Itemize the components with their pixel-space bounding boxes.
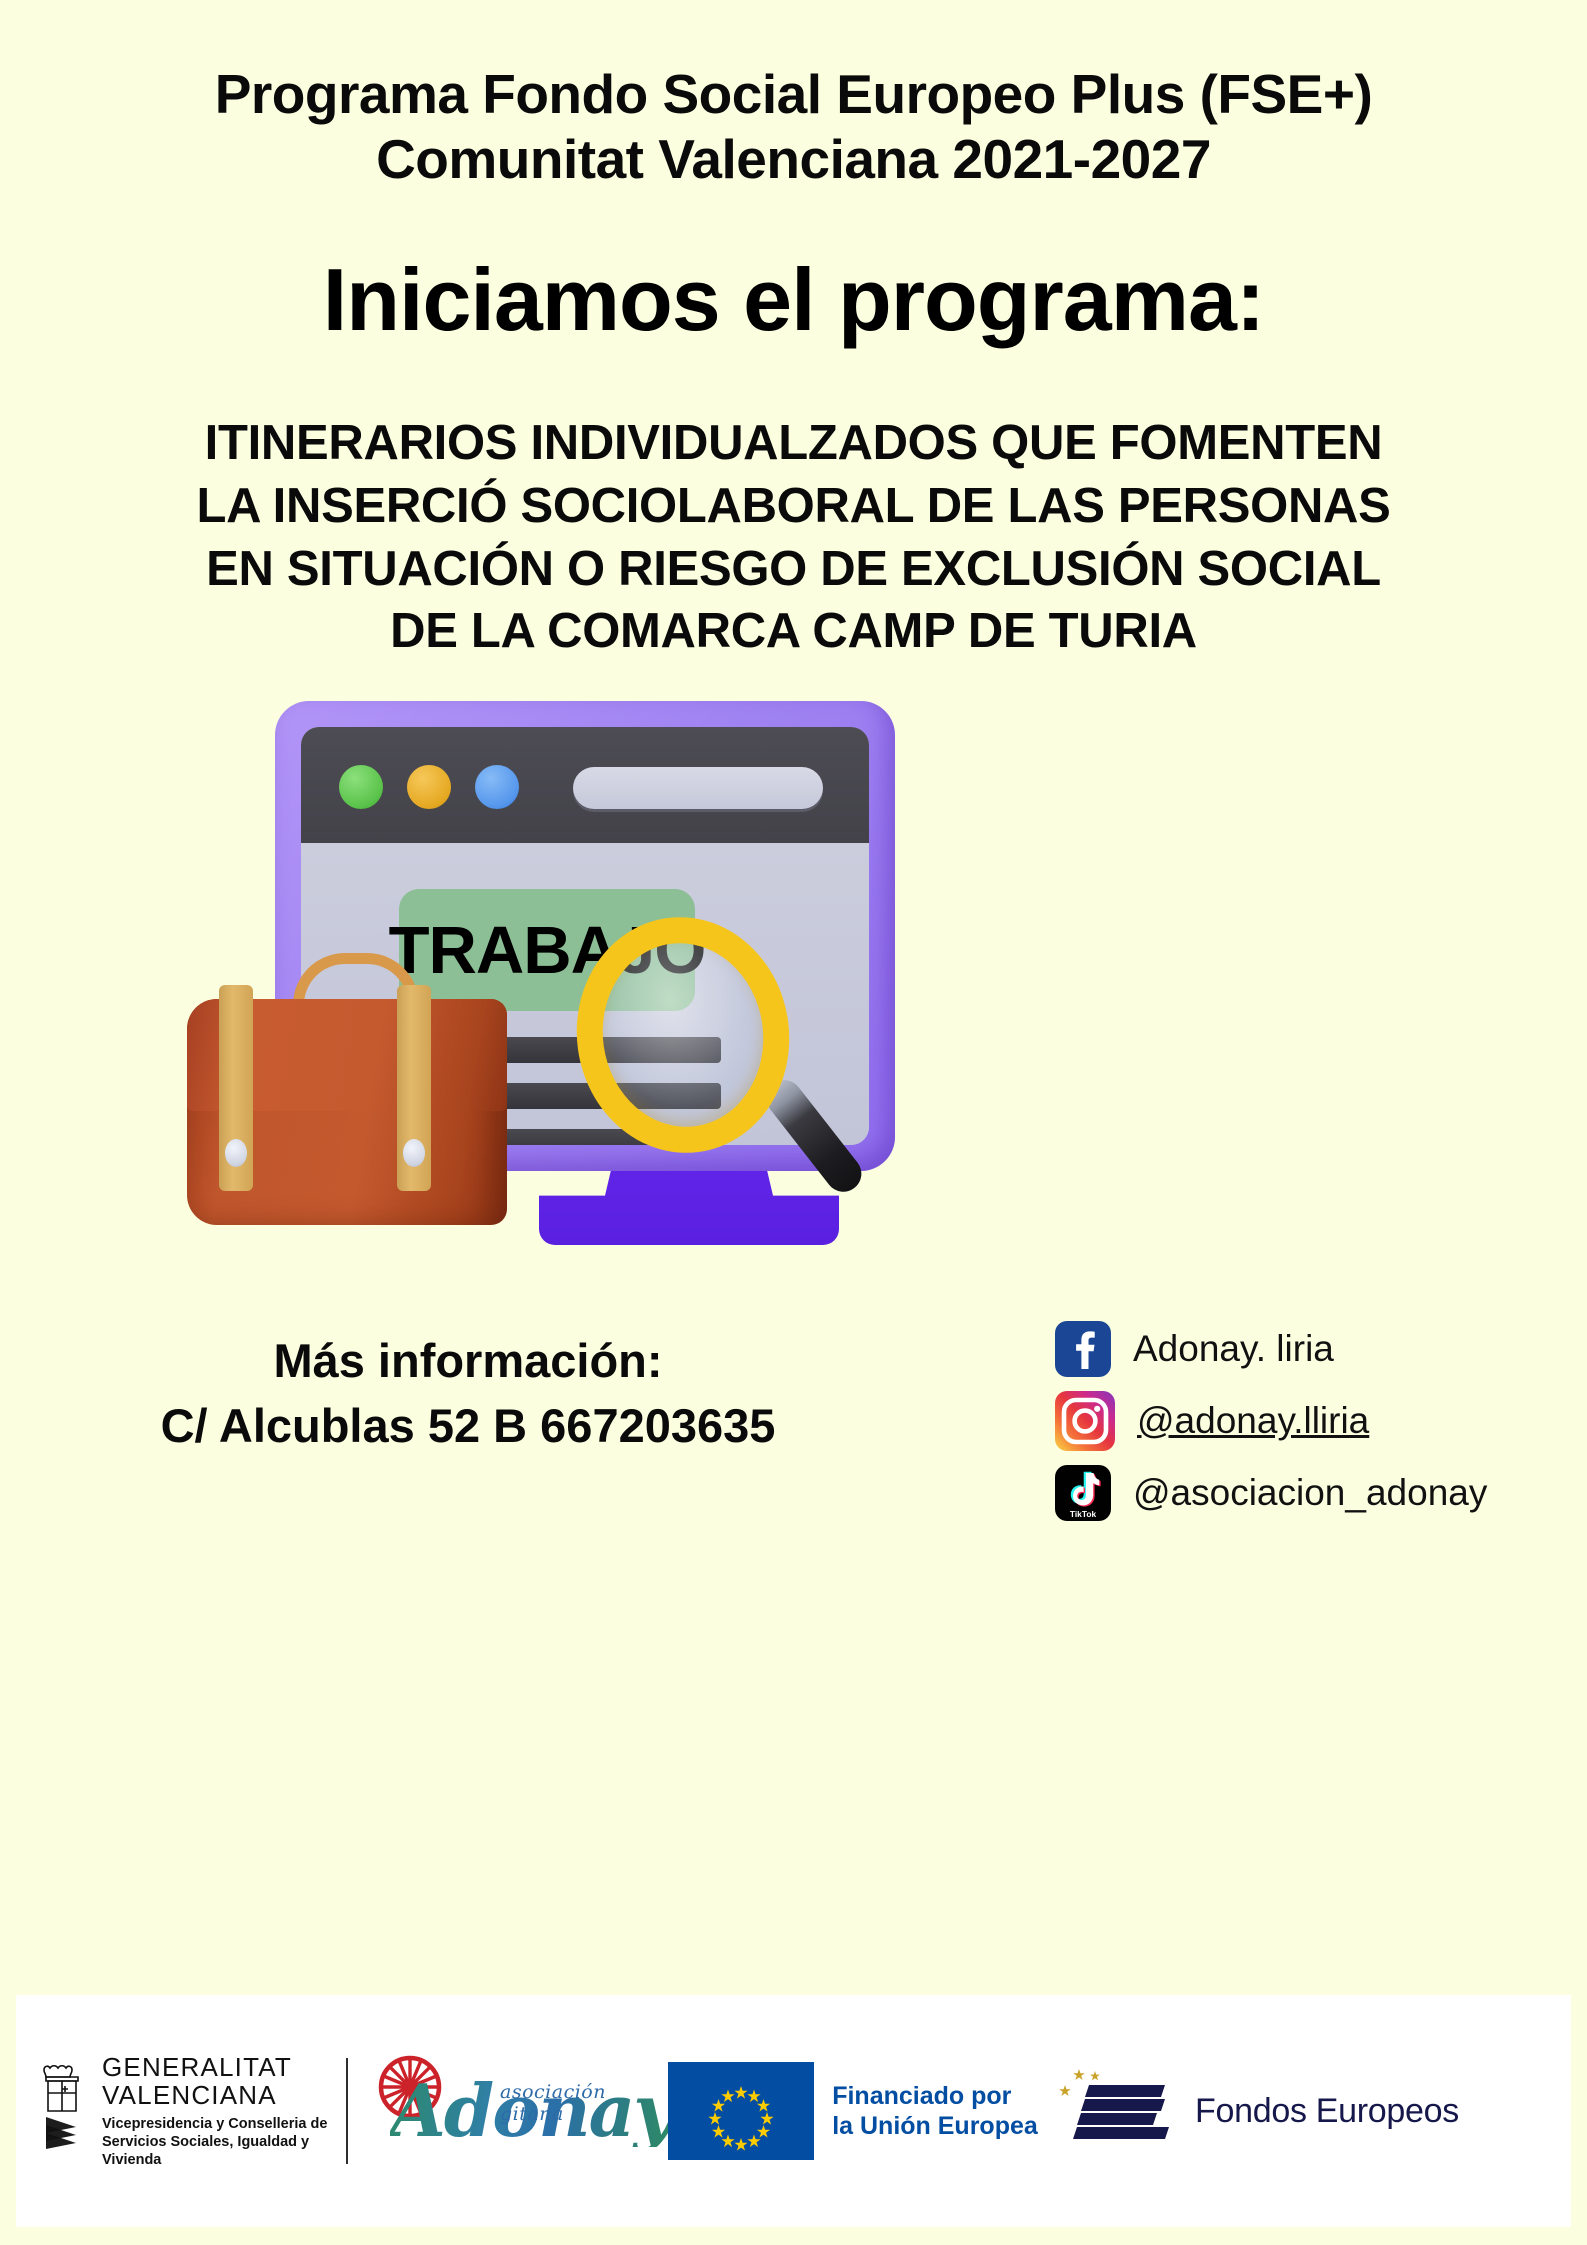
logo-financiado-union-europea: Financiado por la Unión Europea (658, 1995, 1048, 2227)
logo-fondos-europeos: Fondos Europeos (1048, 1995, 1468, 2227)
illustration-container: TRABAJO (0, 685, 1587, 1295)
facebook-icon[interactable] (1055, 1321, 1111, 1377)
program-description: ITINERARIOS INDIVIDUALZADOS QUE FOMENTEN… (0, 412, 1587, 663)
instagram-icon[interactable] (1055, 1391, 1115, 1451)
eu-funding-line2: la Unión Europea (832, 2111, 1038, 2142)
description-line-4: DE LA COMARCA CAMP DE TURIA (110, 600, 1477, 663)
briefcase-buckle-right (403, 1139, 425, 1167)
briefcase-icon (187, 957, 507, 1225)
eu-flag-icon (668, 2062, 814, 2160)
facebook-handle[interactable]: Adonay. liria (1133, 1328, 1334, 1370)
page-title: Iniciamos el programa: (0, 254, 1587, 346)
briefcase-buckle-left (225, 1139, 247, 1167)
instagram-handle[interactable]: @adonay.lliria (1137, 1400, 1369, 1442)
eu-funding-line1: Financiado por (832, 2081, 1038, 2112)
generalitat-subtitle-line1: Vicepresidencia y Conselleria de (102, 2115, 336, 2133)
fondos-europeos-label: Fondos Europeos (1195, 2092, 1459, 2131)
traffic-light-green-icon (339, 765, 383, 809)
more-info-block: Más información: C/ Alcublas 52 B 667203… (118, 1329, 818, 1458)
description-line-1: ITINERARIOS INDIVIDUALZADOS QUE FOMENTEN (110, 412, 1477, 475)
social-item-tiktok[interactable]: TikTok @asociacion_adonay (1055, 1465, 1487, 1521)
generalitat-title-line2: VALENCIANA (102, 2081, 336, 2109)
fondos-europeos-mark-icon (1057, 2065, 1177, 2157)
logo-generalitat-valenciana: GENERALITAT VALENCIANA Vicepresidencia y… (16, 1995, 336, 2227)
header-block: Programa Fondo Social Europeo Plus (FSE+… (0, 62, 1587, 192)
tiktok-icon[interactable]: TikTok (1055, 1465, 1111, 1521)
social-links: Adonay. liria @adonay.lliria (1055, 1321, 1487, 1521)
poster-root: Programa Fondo Social Europeo Plus (FSE+… (0, 0, 1587, 2245)
browser-url-bar (573, 767, 823, 809)
adonay-tagline: asociación gitana (500, 2081, 644, 2125)
social-item-instagram[interactable]: @adonay.lliria (1055, 1391, 1487, 1451)
program-title-line1: Programa Fondo Social Europeo Plus (FSE+… (215, 63, 1373, 125)
generalitat-subtitle-line2: Servicios Sociales, Igualdad y Vivienda (102, 2133, 336, 2169)
footer-logo-band: GENERALITAT VALENCIANA Vicepresidencia y… (16, 1995, 1571, 2227)
program-title: Programa Fondo Social Europeo Plus (FSE+… (70, 62, 1517, 192)
footer-divider (346, 2058, 348, 2164)
more-info-heading: Más información: (273, 1334, 662, 1387)
traffic-light-blue-icon (475, 765, 519, 809)
contact-section: Más información: C/ Alcublas 52 B 667203… (0, 1305, 1587, 1565)
description-line-2: LA INSERCIÓ SOCIOLABORAL DE LAS PERSONAS (110, 475, 1477, 538)
logo-adonay: Adonay asociación gitana (358, 1995, 658, 2227)
tiktok-wordmark: TikTok (1070, 1509, 1097, 1519)
browser-titlebar (301, 727, 869, 843)
program-title-line2: Comunitat Valenciana 2021-2027 (70, 127, 1517, 192)
description-line-3: EN SITUACIÓN O RIESGO DE EXCLUSIÓN SOCIA… (110, 538, 1477, 601)
eu-funding-text: Financiado por la Unión Europea (832, 2081, 1038, 2142)
generalitat-title: GENERALITAT VALENCIANA (102, 2053, 336, 2109)
social-item-facebook[interactable]: Adonay. liria (1055, 1321, 1487, 1377)
magnifying-glass-icon (577, 917, 877, 1217)
generalitat-subtitle: Vicepresidencia y Conselleria de Servici… (102, 2115, 336, 2169)
traffic-light-amber-icon (407, 765, 451, 809)
magnifier-lens (562, 903, 805, 1166)
contact-address: C/ Alcublas 52 B 667203635 (118, 1394, 818, 1457)
generalitat-crest-icon (36, 2063, 88, 2159)
job-search-illustration: TRABAJO (247, 685, 1167, 1285)
tiktok-handle[interactable]: @asociacion_adonay (1133, 1472, 1487, 1514)
generalitat-title-line1: GENERALITAT (102, 2053, 336, 2081)
